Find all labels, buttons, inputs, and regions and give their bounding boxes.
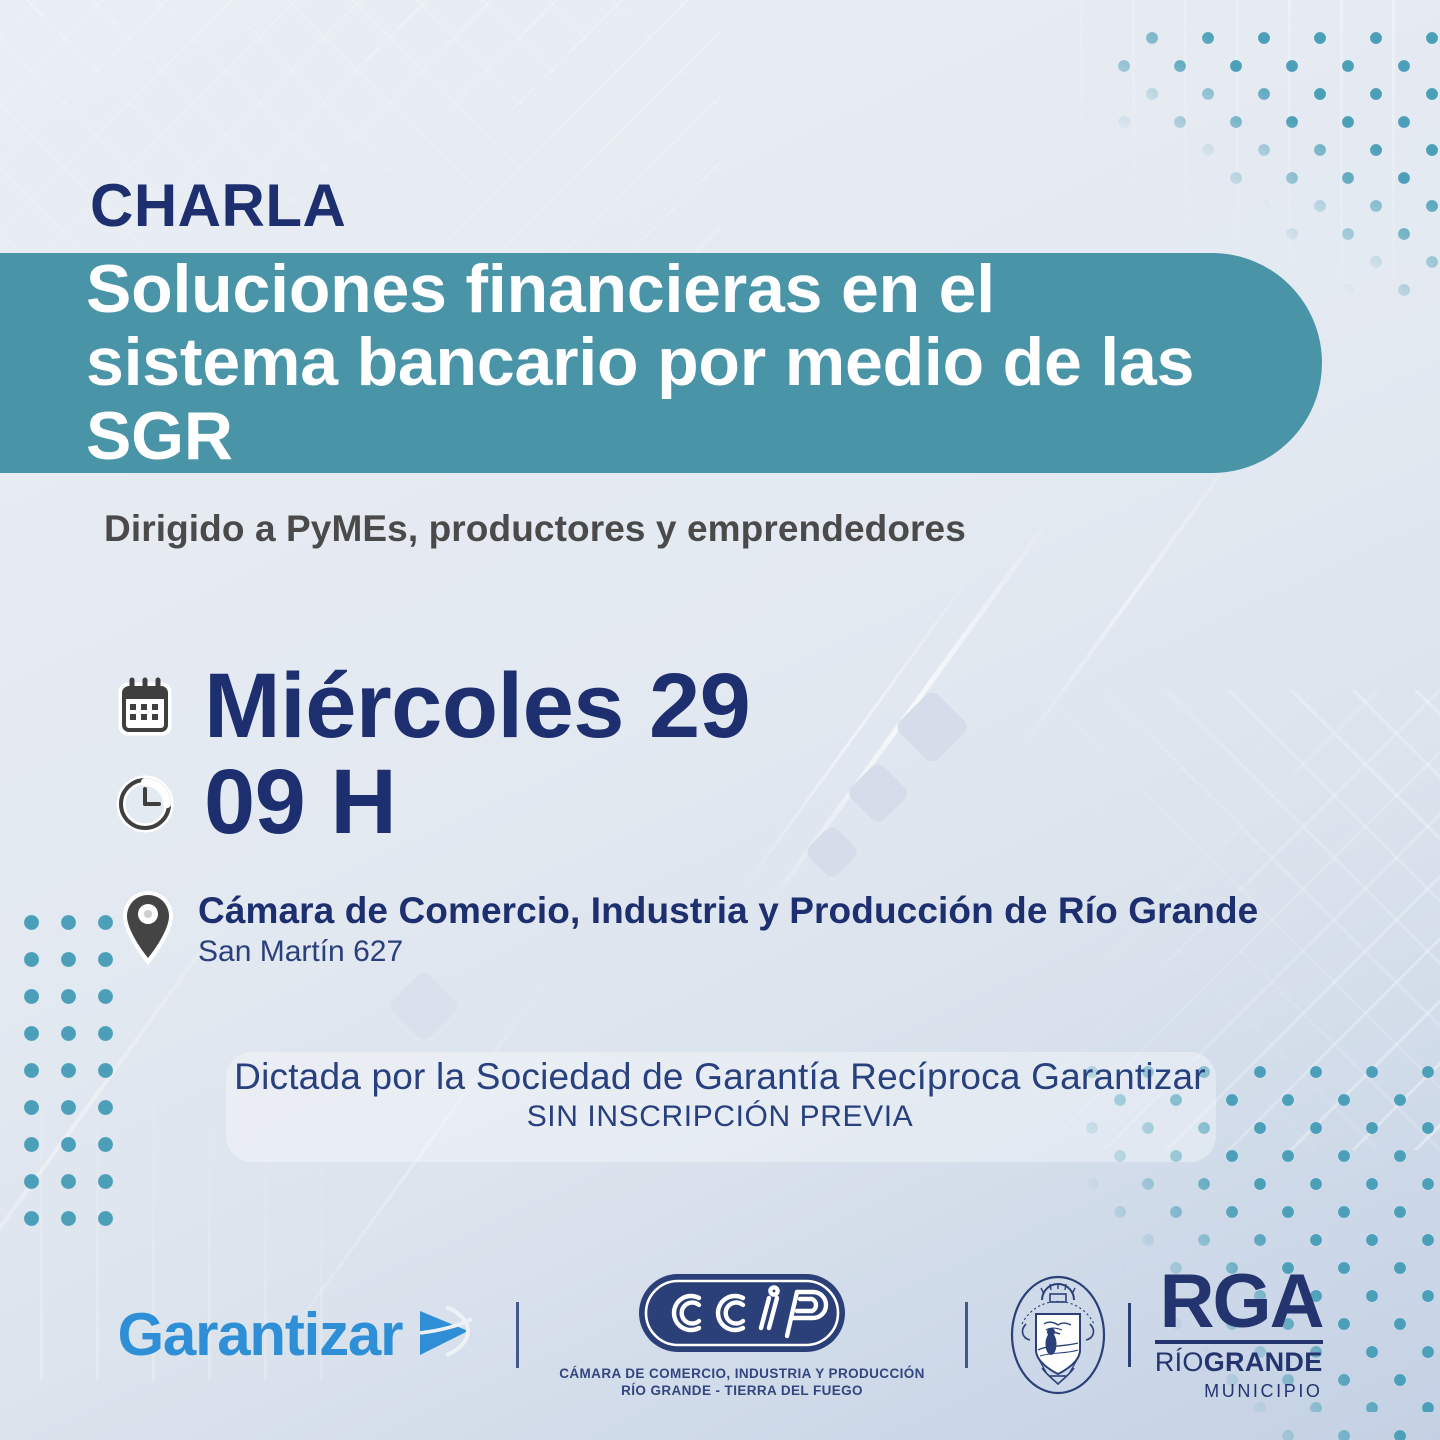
- diamond-shape: [894, 689, 970, 765]
- dictada-line-1: Dictada por la Sociedad de Garantía Recí…: [0, 1056, 1440, 1098]
- rga-city-rio: RÍO: [1155, 1347, 1204, 1377]
- event-time-row: 09 H: [112, 756, 750, 850]
- rga-divider: [1128, 1303, 1131, 1367]
- venue-name: Cámara de Comercio, Industria y Producci…: [198, 890, 1258, 931]
- diamond-shape: [845, 760, 910, 825]
- event-location: Cámara de Comercio, Industria y Producci…: [120, 886, 1258, 968]
- clock-icon: [112, 767, 178, 839]
- rga-text-lockup: RGA RÍOGRANDE MUNICIPIO: [1155, 1268, 1323, 1402]
- diamond-shape: [387, 969, 461, 1043]
- rga-city-grande: GRANDE: [1204, 1347, 1323, 1377]
- diamond-shape: [804, 824, 861, 881]
- vertical-lines-top-right: [1080, 0, 1440, 280]
- page-title: Soluciones financieras en el sistema ban…: [0, 253, 1260, 473]
- venue-address: San Martín 627: [198, 935, 1258, 968]
- dictada-line-2: SIN INSCRIPCIÓN PREVIA: [0, 1100, 1440, 1134]
- event-date-row: Miércoles 29: [112, 660, 750, 754]
- title-band: Soluciones financieras en el sistema ban…: [0, 253, 1322, 473]
- ccip-subtitle-1: CÁMARA DE COMERCIO, INDUSTRIA Y PRODUCCI…: [559, 1366, 925, 1381]
- logo-divider: [516, 1302, 519, 1368]
- poster-canvas: CHARLA Soluciones financieras en el sist…: [0, 0, 1440, 1440]
- rga-wordmark: RGA: [1160, 1268, 1323, 1336]
- location-text: Cámara de Comercio, Industria y Producci…: [198, 886, 1258, 968]
- diagonal-streak: [1015, 430, 1253, 756]
- garantizar-wordmark: Garantizar: [117, 1305, 402, 1365]
- event-date: Miércoles 29: [204, 660, 750, 754]
- ccip-mark-icon: [637, 1272, 847, 1359]
- event-when: Miércoles 29 09 H: [112, 660, 750, 850]
- municipal-crest-icon: [1008, 1272, 1108, 1398]
- logo-bar: Garantizar: [0, 1268, 1440, 1402]
- kicker-label: CHARLA: [90, 176, 346, 236]
- dictada-text-group: Dictada por la Sociedad de Garantía Recí…: [0, 1056, 1440, 1134]
- calendar-icon: [112, 671, 178, 743]
- rga-rule: [1155, 1340, 1323, 1344]
- logo-divider: [965, 1302, 968, 1368]
- rga-tagline: MUNICIPIO: [1204, 1381, 1322, 1402]
- audience-label: Dirigido a PyMEs, productores y emprende…: [104, 508, 966, 550]
- map-pin-icon: [120, 888, 176, 968]
- logo-ccip: CÁMARA DE COMERCIO, INDUSTRIA Y PRODUCCI…: [559, 1272, 925, 1398]
- ccip-subtitle-2: RÍO GRANDE - TIERRA DEL FUEGO: [621, 1383, 863, 1398]
- logo-garantizar: Garantizar: [117, 1305, 476, 1366]
- diagonal-streak: [754, 500, 1064, 924]
- logo-rga: RGA RÍOGRANDE MUNICIPIO: [1008, 1268, 1323, 1402]
- garantizar-arrow-icon: [416, 1305, 476, 1366]
- rga-city: RÍOGRANDE: [1155, 1349, 1323, 1376]
- event-time: 09 H: [204, 756, 396, 850]
- diagonal-streak: [733, 560, 982, 902]
